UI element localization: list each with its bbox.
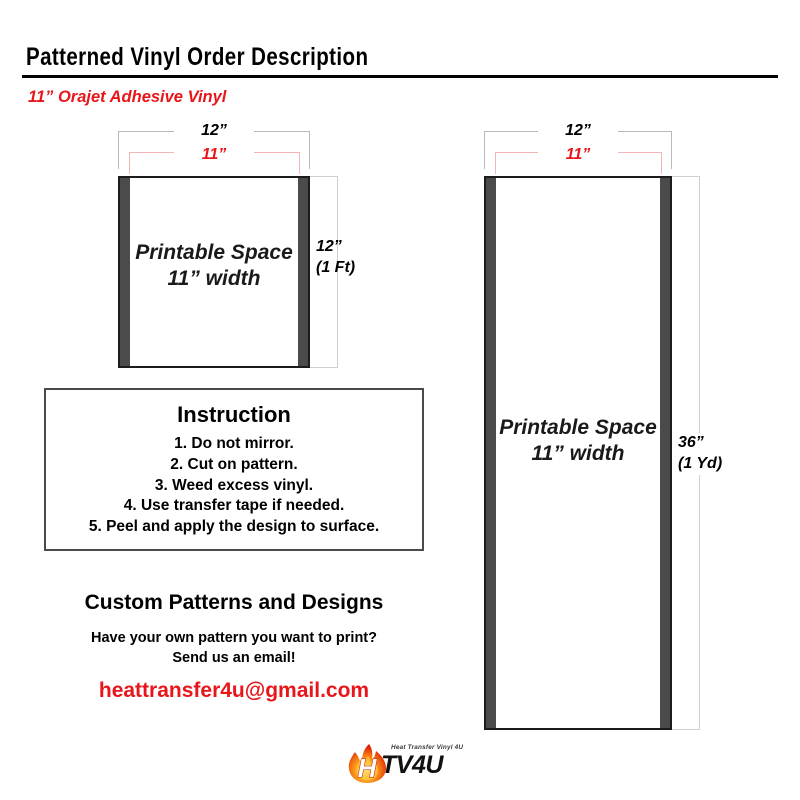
custom-patterns-heading: Custom Patterns and Designs	[44, 591, 424, 615]
custom-patterns-question: Have your own pattern you want to print?	[44, 630, 424, 646]
instruction-box: Instruction 1. Do not mirror. 2. Cut on …	[44, 388, 424, 551]
custom-patterns-cta: Send us an email!	[44, 650, 424, 666]
sheet-12in-right-edge	[298, 178, 308, 366]
instruction-step-1: 1. Do not mirror.	[46, 434, 422, 455]
dim-label-height-12: 12” (1 Ft)	[316, 237, 355, 279]
sheet-12in-caption-line1: Printable Space	[120, 240, 308, 266]
sheet-36in-right-edge	[660, 178, 670, 728]
sheet-36in: Printable Space 11” width	[484, 176, 672, 730]
page-title: Patterned Vinyl Order Description	[26, 43, 368, 72]
dim-label-outer-width-36: 12”	[538, 122, 618, 140]
sheet-36in-caption-line2: 11” width	[486, 441, 670, 467]
sheet-36in-caption-line1: Printable Space	[486, 415, 670, 441]
title-divider	[22, 75, 778, 78]
page-subtitle: 11” Orajet Adhesive Vinyl	[28, 88, 226, 107]
dim-label-height-12-primary: 12”	[316, 237, 355, 258]
dim-label-inner-width-12: 11”	[174, 146, 254, 164]
logo-wordmark: TV4U	[381, 751, 443, 780]
instruction-title: Instruction	[46, 402, 422, 428]
sheet-12in-caption-line2: 11” width	[120, 266, 308, 292]
dim-label-inner-width-36: 11”	[538, 146, 618, 164]
dim-label-height-36-primary: 36”	[678, 433, 722, 454]
logo-letter-h: H	[358, 753, 378, 783]
dim-label-height-36: 36” (1 Yd)	[678, 433, 722, 475]
instruction-step-3: 3. Weed excess vinyl.	[46, 476, 422, 497]
sheet-12in-left-edge	[120, 178, 130, 366]
order-description-page: Patterned Vinyl Order Description 11” Or…	[0, 0, 800, 800]
brand-logo: H Heat Transfer Vinyl 4U TV4U	[345, 742, 465, 784]
sheet-36in-left-edge	[486, 178, 496, 728]
contact-email-link[interactable]: heattransfer4u@gmail.com	[44, 679, 424, 703]
instruction-step-4: 4. Use transfer tape if needed.	[46, 496, 422, 517]
dim-label-height-36-secondary: (1 Yd)	[678, 454, 722, 475]
sheet-36in-caption: Printable Space 11” width	[486, 415, 670, 466]
instruction-step-2: 2. Cut on pattern.	[46, 455, 422, 476]
logo-tagline: Heat Transfer Vinyl 4U	[391, 744, 463, 751]
sheet-12in-caption: Printable Space 11” width	[120, 240, 308, 291]
instruction-step-5: 5. Peel and apply the design to surface.	[46, 517, 422, 538]
sheet-12in: Printable Space 11” width	[118, 176, 310, 368]
dim-label-height-12-secondary: (1 Ft)	[316, 258, 355, 279]
dim-label-outer-width-12: 12”	[174, 122, 254, 140]
